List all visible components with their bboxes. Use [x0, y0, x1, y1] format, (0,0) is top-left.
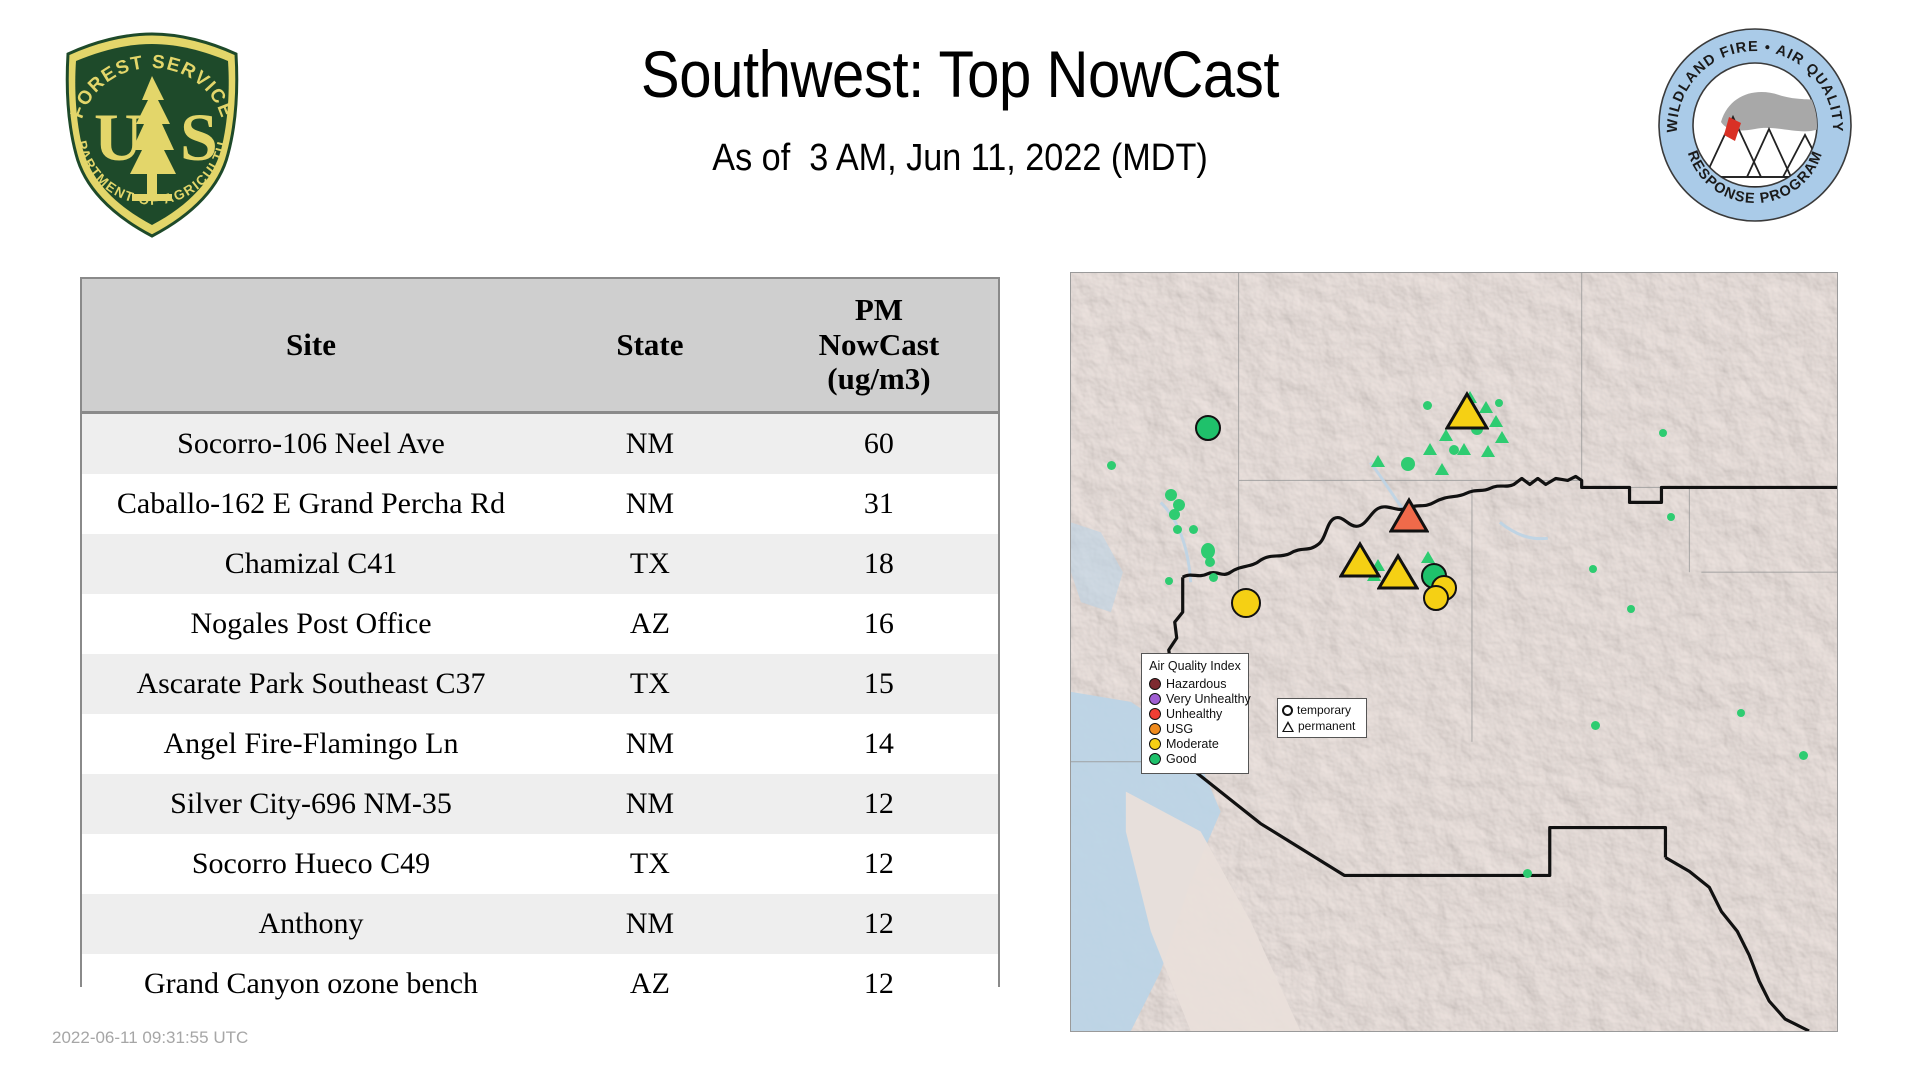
aqi-legend-item-unhealthy: Unhealthy: [1149, 706, 1241, 721]
monitor-marker-moderate-permanent[interactable]: [1339, 541, 1381, 579]
type-legend-label: temporary: [1297, 703, 1351, 717]
type-legend-label: permanent: [1298, 719, 1355, 733]
aqi-legend-label: Hazardous: [1166, 677, 1226, 691]
page-header: FOREST SERVICE U S DEPARTMENT OF AGRICUL…: [0, 0, 1920, 265]
table-row: Angel Fire-Flamingo Ln NM 14: [82, 714, 998, 774]
table-row: Ascarate Park Southeast C37 TX 15: [82, 654, 998, 714]
cell-state: NM: [540, 774, 760, 834]
table-row: Nogales Post Office AZ 16: [82, 594, 998, 654]
cell-pm: 15: [760, 654, 998, 714]
table-row: Anthony NM 12: [82, 894, 998, 954]
column-header-pm-nowcast[interactable]: PM NowCast (ug/m3): [760, 279, 998, 413]
aqi-legend-item-very-unhealthy: Very Unhealthy: [1149, 691, 1241, 706]
aqi-legend-label: Very Unhealthy: [1166, 692, 1251, 706]
aqi-legend-label: Moderate: [1166, 737, 1219, 751]
footer-timestamp: 2022-06-11 09:31:55 UTC: [52, 1028, 248, 1048]
usfs-shield-logo: FOREST SERVICE U S DEPARTMENT OF AGRICUL…: [52, 28, 252, 243]
table-body: Socorro-106 Neel Ave NM 60 Caballo-162 E…: [82, 413, 998, 1015]
swatch-unhealthy-icon: [1149, 708, 1161, 720]
aqi-legend-item-good: Good: [1149, 751, 1241, 766]
swatch-very-unhealthy-icon: [1149, 693, 1161, 705]
cell-pm: 12: [760, 954, 998, 1014]
cell-site: Grand Canyon ozone bench: [82, 954, 540, 1014]
cell-state: NM: [540, 714, 760, 774]
triangle-outline-icon: [1282, 721, 1294, 732]
cell-site: Caballo-162 E Grand Percha Rd: [82, 474, 540, 534]
cell-site: Nogales Post Office: [82, 594, 540, 654]
map-basemap: [1071, 273, 1837, 1031]
table-row: Chamizal C41 TX 18: [82, 534, 998, 594]
aqi-legend-label: USG: [1166, 722, 1193, 736]
circle-outline-icon: [1282, 705, 1293, 716]
column-header-state[interactable]: State: [540, 279, 760, 413]
cell-state: AZ: [540, 954, 760, 1014]
cell-site: Silver City-696 NM-35: [82, 774, 540, 834]
pm-header-line3: (ug/m3): [827, 361, 930, 396]
cell-pm: 31: [760, 474, 998, 534]
table-header-row: Site State PM NowCast (ug/m3): [82, 279, 998, 413]
cell-state: AZ: [540, 594, 760, 654]
cell-pm: 18: [760, 534, 998, 594]
table-row: Silver City-696 NM-35 NM 12: [82, 774, 998, 834]
cell-site: Angel Fire-Flamingo Ln: [82, 714, 540, 774]
cell-state: TX: [540, 834, 760, 894]
pm-header-line1: PM: [855, 292, 903, 327]
page-title: Southwest: Top NowCast: [344, 40, 1576, 109]
table-row: Caballo-162 E Grand Percha Rd NM 31: [82, 474, 998, 534]
aqi-legend-item-usg: USG: [1149, 721, 1241, 736]
wildland-fire-air-quality-logo: WILDLAND FIRE • AIR QUALITY RESPONSE PRO…: [1655, 25, 1855, 225]
cell-state: TX: [540, 534, 760, 594]
cell-site: Anthony: [82, 894, 540, 954]
cell-pm: 16: [760, 594, 998, 654]
cell-pm: 14: [760, 714, 998, 774]
type-legend-item-temporary: temporary: [1282, 702, 1362, 718]
monitor-marker-moderate-temporary[interactable]: [1423, 585, 1449, 611]
swatch-good-icon: [1149, 753, 1161, 765]
cell-state: TX: [540, 654, 760, 714]
monitor-marker-moderate-temporary[interactable]: [1231, 588, 1261, 618]
cell-pm: 60: [760, 413, 998, 475]
column-header-site[interactable]: Site: [82, 279, 540, 413]
table-row: Socorro Hueco C49 TX 12: [82, 834, 998, 894]
table-row: Socorro-106 Neel Ave NM 60: [82, 413, 998, 475]
monitor-type-legend: temporary permanent: [1277, 698, 1367, 738]
cell-site: Chamizal C41: [82, 534, 540, 594]
page-subtitle: As of 3 AM, Jun 11, 2022 (MDT): [330, 137, 1590, 180]
type-legend-item-permanent: permanent: [1282, 718, 1362, 734]
swatch-moderate-icon: [1149, 738, 1161, 750]
cell-state: NM: [540, 894, 760, 954]
aqi-legend-label: Unhealthy: [1166, 707, 1222, 721]
cell-pm: 12: [760, 834, 998, 894]
monitor-marker-good[interactable]: [1195, 415, 1221, 441]
aqi-legend: Air Quality Index Hazardous Very Unhealt…: [1141, 653, 1249, 774]
cell-pm: 12: [760, 894, 998, 954]
cell-pm: 12: [760, 774, 998, 834]
nowcast-table: Site State PM NowCast (ug/m3) Socorro-10…: [82, 279, 998, 1014]
cell-state: NM: [540, 413, 760, 475]
aqi-legend-label: Good: [1166, 752, 1197, 766]
cell-site: Socorro Hueco C49: [82, 834, 540, 894]
swatch-hazardous-icon: [1149, 678, 1161, 690]
monitor-marker-unhealthy-permanent[interactable]: [1389, 497, 1429, 534]
cell-site: Socorro-106 Neel Ave: [82, 413, 540, 475]
aqi-legend-item-hazardous: Hazardous: [1149, 676, 1241, 691]
pm-header-line2: NowCast: [819, 327, 940, 362]
aqi-legend-item-moderate: Moderate: [1149, 736, 1241, 751]
title-block: Southwest: Top NowCast As of 3 AM, Jun 1…: [260, 40, 1660, 180]
nowcast-table-panel: Site State PM NowCast (ug/m3) Socorro-10…: [80, 277, 1000, 987]
monitor-marker-moderate-permanent[interactable]: [1445, 391, 1489, 431]
aqi-legend-title: Air Quality Index: [1149, 659, 1241, 673]
cell-state: NM: [540, 474, 760, 534]
swatch-usg-icon: [1149, 723, 1161, 735]
air-quality-map[interactable]: Air Quality Index Hazardous Very Unhealt…: [1070, 272, 1838, 1032]
monitor-marker-moderate-permanent[interactable]: [1377, 553, 1419, 591]
cell-site: Ascarate Park Southeast C37: [82, 654, 540, 714]
table-row: Grand Canyon ozone bench AZ 12: [82, 954, 998, 1014]
